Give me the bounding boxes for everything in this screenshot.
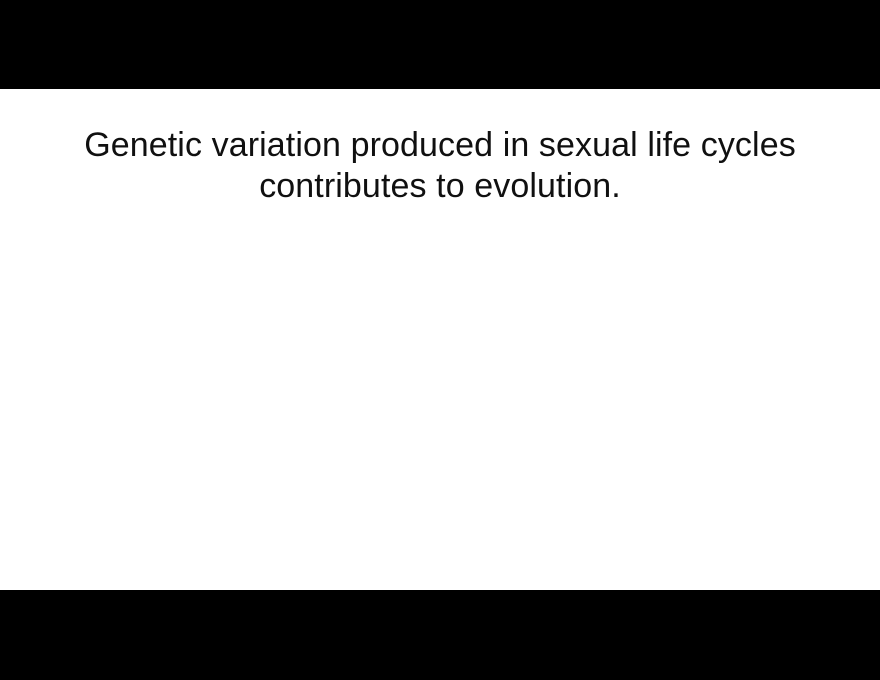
slide-title-line-2: contributes to evolution. [60, 166, 820, 207]
letterbox-bottom-bar [0, 590, 880, 680]
slide-canvas: Genetic variation produced in sexual lif… [0, 89, 880, 590]
letterbox-top-bar [0, 0, 880, 89]
slide-title: Genetic variation produced in sexual lif… [60, 125, 820, 207]
slide-title-line-1: Genetic variation produced in sexual lif… [60, 125, 820, 166]
slide-body-content [60, 219, 820, 559]
slide-viewer: Genetic variation produced in sexual lif… [0, 0, 880, 680]
